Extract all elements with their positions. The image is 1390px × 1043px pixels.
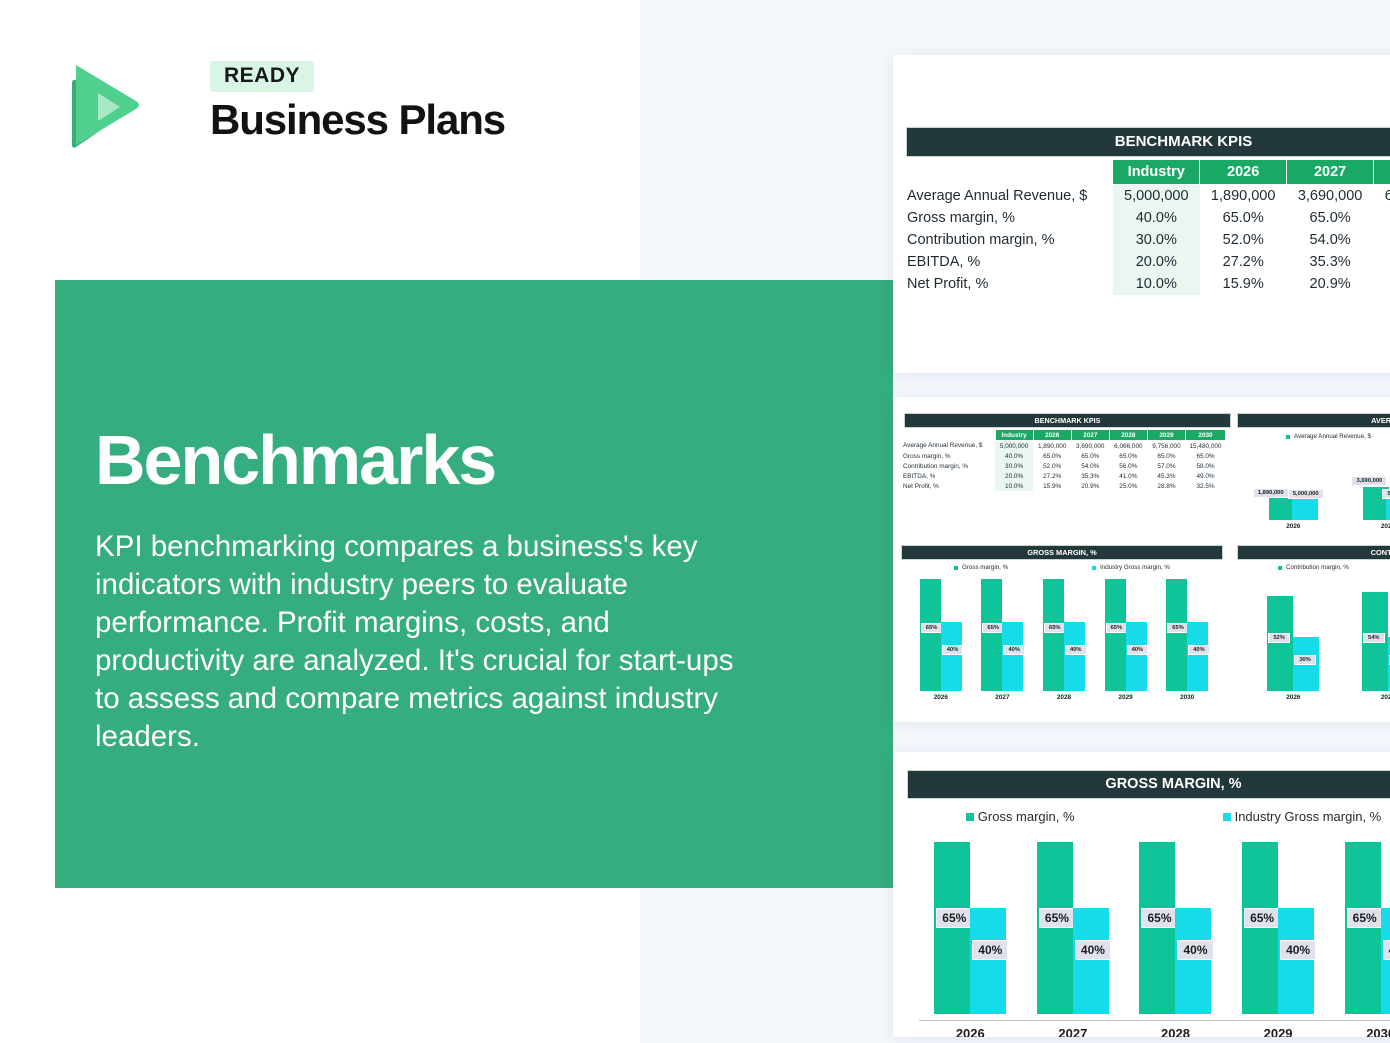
chart-plot-area: 65% 40% 65% 40% 65%: [910, 575, 1218, 691]
bar-value-label: 40%: [1127, 645, 1149, 655]
bar-value-label: 65%: [1244, 908, 1280, 928]
bar-company: 65%: [1043, 579, 1064, 691]
bar-group: 65% 40%: [1159, 575, 1215, 691]
cell-2028: 56.0%: [1109, 461, 1147, 471]
legend-item: Gross margin, %: [954, 564, 1008, 571]
x-tick: 2027: [1346, 694, 1390, 701]
cell-2029: 45.3%: [1147, 471, 1185, 481]
legend-item: Gross margin, %: [966, 809, 1075, 824]
table-row: EBITDA, % 20.0% 27.2% 35.3% 41.0%: [901, 251, 1390, 273]
legend-swatch-icon: [1223, 813, 1231, 821]
bar-company: 65%: [1105, 579, 1126, 691]
bar-value-label: 3,690,000: [1351, 476, 1387, 486]
legend-swatch-icon: [1092, 566, 1096, 570]
table-row: Contribution margin, % 30.0% 52.0% 54.0%…: [901, 229, 1390, 251]
chart-x-axis: 2026 2027 2028 2029 2030: [919, 1020, 1390, 1037]
kpi-table-mid-grid: Industry 2026 2027 2028 2029 2030 Averag…: [901, 429, 1226, 491]
cell-2027: 35.3%: [1287, 251, 1374, 273]
bar-group: 65% 40%: [913, 575, 969, 691]
cell-industry: 10.0%: [995, 481, 1033, 491]
chart-legend: Contribution margin, %: [1278, 564, 1390, 571]
page-description: KPI benchmarking compares a business's k…: [95, 528, 765, 756]
bar-company: 65%: [1242, 842, 1278, 1014]
cell-2027: 20.9%: [1071, 481, 1109, 491]
bar-company: 65%: [1345, 842, 1381, 1014]
x-tick: 2027: [974, 694, 1030, 701]
cell-industry: 30.0%: [995, 461, 1033, 471]
table-row: Net Profit, % 10.0% 15.9% 20.9% 25.0% 28…: [901, 481, 1226, 491]
legend-label: Average Annual Revenue, $: [1294, 433, 1371, 440]
bar-company: 65%: [1037, 842, 1073, 1014]
bar-industry: 40%: [1002, 622, 1023, 691]
bar-group: 65% 40%: [920, 836, 1020, 1014]
cell-2026: 27.2%: [1200, 251, 1287, 273]
hero-panel: Benchmarks KPI benchmarking compares a b…: [55, 280, 893, 888]
cell-2027: 20.9%: [1287, 273, 1374, 295]
bar-group: 54% 30%: [1346, 575, 1390, 691]
cell-2030: 58.0%: [1186, 461, 1226, 471]
bar-company: 65%: [920, 579, 941, 691]
cell-industry: 20.0%: [995, 471, 1033, 481]
bar-value-label: 40%: [1075, 940, 1111, 960]
cell-industry: 40.0%: [995, 451, 1033, 461]
bar-company: 54%: [1362, 592, 1388, 691]
legend-label: Industry Gross margin, %: [1100, 564, 1170, 571]
x-tick: 2028: [1036, 694, 1092, 701]
cell-2027: 3,690,000: [1071, 441, 1109, 452]
bar-company: 52%: [1267, 596, 1293, 691]
chart-legend: Average Annual Revenue, $: [1286, 433, 1390, 440]
chart-title: GROSS MARGIN, %: [901, 545, 1223, 560]
legend-item: Industry Gross margin, %: [1092, 564, 1170, 571]
x-tick: 2027: [1023, 1026, 1123, 1037]
cell-2028: 65.0%: [1109, 451, 1147, 461]
bar-value-label: 40%: [1177, 940, 1213, 960]
cell-2030: 49.0%: [1186, 471, 1226, 481]
bar-value-label: 65%: [1347, 908, 1383, 928]
legend-swatch-icon: [1278, 566, 1282, 570]
bar-value-label: 65%: [1039, 908, 1075, 928]
cell-2028: 41.0%: [1374, 251, 1390, 273]
row-label: EBITDA, %: [901, 471, 995, 481]
x-tick: 2026: [1251, 523, 1335, 530]
cell-industry: 5,000,000: [995, 441, 1033, 452]
chart-average-annual-revenue: AVERAGE ANNUAL REVENUE, $ Average Annual…: [1234, 413, 1390, 541]
page-title: Benchmarks: [95, 420, 495, 500]
table-row: Gross margin, % 40.0% 65.0% 65.0% 65.0%: [901, 207, 1390, 229]
table-row: Net Profit, % 10.0% 15.9% 20.9% 25.0%: [901, 273, 1390, 295]
cell-2029: 28.8%: [1147, 481, 1185, 491]
benchmark-kpis-table-card: BENCHMARK KPIS Industry 2026 2027 2028 A…: [893, 55, 1390, 373]
legend-label: Gross margin, %: [978, 809, 1075, 824]
legend-item: Average Annual Revenue, $: [1286, 433, 1371, 440]
chart-x-axis: 2026 2027 2028: [1246, 523, 1390, 530]
table-row: Average Annual Revenue, $ 5,000,000 1,89…: [901, 441, 1226, 452]
bar-value-label: 5,000,000: [1382, 489, 1390, 499]
chart-contribution-margin: CONTRIBUTION MARGIN, % Contribution marg…: [1234, 545, 1390, 721]
x-tick: 2026: [920, 1026, 1020, 1037]
cell-2026: 65.0%: [1033, 451, 1071, 461]
bar-industry: 40%: [941, 622, 962, 691]
cell-2029: 57.0%: [1147, 461, 1185, 471]
row-label: Average Annual Revenue, $: [901, 185, 1113, 208]
bar-value-label: 1,890,000: [1253, 488, 1289, 498]
bar-company: 65%: [1166, 579, 1187, 691]
header-2027: 2027: [1071, 430, 1109, 441]
bar-industry: 40%: [1278, 908, 1314, 1014]
bar-industry: 30%: [1293, 637, 1319, 691]
chart-x-axis: 2026 2027 2028: [1246, 694, 1390, 701]
kpi-table-mid-title: BENCHMARK KPIS: [904, 413, 1231, 428]
cell-2027: 3,690,000: [1287, 185, 1374, 208]
header-2028: 2028: [1374, 160, 1390, 185]
kpi-table-mid: BENCHMARK KPIS Industry 2026 2027 2028 2…: [901, 413, 1231, 491]
bar-value-label: 40%: [1188, 645, 1210, 655]
cell-2028: 6,066,000: [1109, 441, 1147, 452]
row-label: Contribution margin, %: [901, 229, 1113, 251]
bar-value-label: 65%: [1044, 623, 1066, 633]
header-2029: 2029: [1147, 430, 1185, 441]
bar-group: 65% 40%: [1125, 836, 1225, 1014]
cell-2029: 9,756,000: [1147, 441, 1185, 452]
bar-value-label: 40%: [1003, 645, 1025, 655]
bar-group: 65% 40%: [1023, 836, 1123, 1014]
x-tick: 2028: [1125, 1026, 1225, 1037]
kpi-table-top: BENCHMARK KPIS Industry 2026 2027 2028 A…: [901, 127, 1390, 295]
chart-title: CONTRIBUTION MARGIN, %: [1237, 545, 1390, 560]
bar-group: 65% 40%: [1228, 836, 1328, 1014]
bar-value-label: 54%: [1363, 633, 1385, 643]
legend-label: Industry Gross margin, %: [1235, 809, 1382, 824]
chart-gross-margin-large: GROSS MARGIN, % Gross margin, % Industry…: [901, 770, 1390, 1030]
bar-group: 65% 40%: [1331, 836, 1390, 1014]
ready-badge: READY: [210, 61, 314, 92]
header-industry: Industry: [1113, 160, 1200, 185]
cell-2028: 41.0%: [1109, 471, 1147, 481]
bar-value-label: 30%: [1294, 655, 1316, 665]
bar-industry: 40%: [1073, 908, 1109, 1014]
bar-industry: 40%: [1064, 622, 1085, 691]
cell-2030: 65.0%: [1186, 451, 1226, 461]
bar-value-label: 65%: [921, 623, 943, 633]
bar-industry: 40%: [1187, 622, 1208, 691]
row-label: Net Profit, %: [901, 481, 995, 491]
row-label: Average Annual Revenue, $: [901, 441, 995, 452]
x-tick: 2030: [1159, 694, 1215, 701]
cell-2026: 52.0%: [1200, 229, 1287, 251]
x-tick: 2026: [1251, 694, 1335, 701]
cell-industry: 5,000,000: [1113, 185, 1200, 208]
brand-wordmark: READY Business Plans: [210, 61, 505, 144]
x-tick: 2027: [1346, 523, 1390, 530]
cell-2026: 1,890,000: [1200, 185, 1287, 208]
bar-value-label: 65%: [1106, 623, 1128, 633]
bar-industry: 5,000,000: [1386, 494, 1390, 520]
kpi-table-top-grid: Industry 2026 2027 2028 Average Annual R…: [901, 159, 1390, 295]
legend-swatch-icon: [1286, 435, 1290, 439]
chart-plot-area: 52% 30% 54% 30% 56%: [1246, 575, 1390, 691]
x-tick: 2030: [1331, 1026, 1390, 1037]
bar-industry: 40%: [970, 908, 1006, 1014]
header-industry: Industry: [995, 430, 1033, 441]
chart-gross-margin-small: GROSS MARGIN, % Gross margin, % Industry…: [896, 545, 1228, 721]
chart-plot-area: 1,890,000 5,000,000 3,690,000 5,000,000: [1246, 446, 1390, 520]
chart-legend: Gross margin, % Industry Gross margin, %: [901, 809, 1390, 824]
cell-2026: 15.9%: [1033, 481, 1071, 491]
cell-2028: 25.0%: [1374, 273, 1390, 295]
cell-2030: 15,480,000: [1186, 441, 1226, 452]
x-tick: 2029: [1228, 1026, 1328, 1037]
cell-2028: 6,066,000: [1374, 185, 1390, 208]
kpi-table-top-title: BENCHMARK KPIS: [906, 127, 1390, 157]
cell-2028: 56.0%: [1374, 229, 1390, 251]
bar-group: 1,890,000 5,000,000: [1251, 446, 1335, 520]
bar-industry: 40%: [1175, 908, 1211, 1014]
header-2030: 2030: [1186, 430, 1226, 441]
row-label: Contribution margin, %: [901, 461, 995, 471]
row-label: Gross margin, %: [901, 451, 995, 461]
cell-2026: 65.0%: [1200, 207, 1287, 229]
x-tick: 2026: [913, 694, 969, 701]
play-triangle-logo-icon: [58, 57, 146, 149]
bar-value-label: 40%: [1065, 645, 1087, 655]
bar-company: 65%: [1139, 842, 1175, 1014]
cell-2027: 54.0%: [1287, 229, 1374, 251]
cell-2027: 35.3%: [1071, 471, 1109, 481]
brand-logo[interactable]: READY Business Plans: [58, 55, 448, 155]
table-header-row: Industry 2026 2027 2028: [901, 160, 1390, 185]
cell-2028: 65.0%: [1374, 207, 1390, 229]
header-blank: [901, 160, 1113, 185]
cell-2027: 65.0%: [1071, 451, 1109, 461]
table-header-row: Industry 2026 2027 2028 2029 2030: [901, 430, 1226, 441]
bar-value-label: 40%: [1280, 940, 1316, 960]
cell-industry: 40.0%: [1113, 207, 1200, 229]
bar-group: 52% 30%: [1251, 575, 1335, 691]
bar-value-label: 40%: [972, 940, 1008, 960]
header-2028: 2028: [1109, 430, 1147, 441]
row-label: Net Profit, %: [901, 273, 1113, 295]
table-row: Contribution margin, % 30.0% 52.0% 54.0%…: [901, 461, 1226, 471]
bar-value-label: 65%: [936, 908, 972, 928]
bar-industry: 40%: [1126, 622, 1147, 691]
header-2026: 2026: [1033, 430, 1071, 441]
cell-2030: 32.5%: [1186, 481, 1226, 491]
bar-group: 65% 40%: [974, 575, 1030, 691]
legend-label: Contribution margin, %: [1286, 564, 1349, 571]
bar-value-label: 40%: [942, 645, 964, 655]
cell-2026: 27.2%: [1033, 471, 1071, 481]
bar-value-label: 40%: [1383, 940, 1390, 960]
header-blank: [901, 430, 995, 441]
bar-industry: 5,000,000: [1292, 494, 1318, 520]
cell-2027: 54.0%: [1071, 461, 1109, 471]
bar-value-label: 52%: [1268, 633, 1290, 643]
cell-2026: 52.0%: [1033, 461, 1071, 471]
chart-plot-area: 65% 40% 65% 40% 65%: [919, 836, 1390, 1014]
bar-value-label: 5,000,000: [1288, 489, 1324, 499]
cell-industry: 20.0%: [1113, 251, 1200, 273]
cell-2026: 15.9%: [1200, 273, 1287, 295]
header-2027: 2027: [1287, 160, 1374, 185]
legend-swatch-icon: [954, 566, 958, 570]
cell-2029: 65.0%: [1147, 451, 1185, 461]
cell-2028: 25.0%: [1109, 481, 1147, 491]
bar-value-label: 65%: [982, 623, 1004, 633]
cell-industry: 30.0%: [1113, 229, 1200, 251]
chart-legend: Gross margin, % Industry Gross margin, %: [896, 564, 1228, 571]
row-label: EBITDA, %: [901, 251, 1113, 273]
row-label: Gross margin, %: [901, 207, 1113, 229]
cell-2027: 65.0%: [1287, 207, 1374, 229]
bar-group: 65% 40%: [1098, 575, 1154, 691]
chart-title: AVERAGE ANNUAL REVENUE, $: [1237, 413, 1390, 428]
chart-x-axis: 2026 2027 2028 2029 2030: [910, 694, 1218, 701]
bar-value-label: 65%: [1167, 623, 1189, 633]
legend-item: Industry Gross margin, %: [1223, 809, 1382, 824]
table-row: Average Annual Revenue, $ 5,000,000 1,89…: [901, 185, 1390, 208]
cell-2026: 1,890,000: [1033, 441, 1071, 452]
header-2026: 2026: [1200, 160, 1287, 185]
gross-margin-chart-card: GROSS MARGIN, % Gross margin, % Industry…: [893, 752, 1390, 1037]
cell-industry: 10.0%: [1113, 273, 1200, 295]
legend-swatch-icon: [966, 813, 974, 821]
bar-company: 65%: [934, 842, 970, 1014]
table-row: Gross margin, % 40.0% 65.0% 65.0% 65.0% …: [901, 451, 1226, 461]
brand-name: Business Plans: [210, 96, 505, 144]
bar-industry: 40%: [1381, 908, 1390, 1014]
bar-value-label: 65%: [1141, 908, 1177, 928]
dashboard-card: BENCHMARK KPIS Industry 2026 2027 2028 2…: [893, 397, 1390, 722]
bar-company: 65%: [981, 579, 1002, 691]
chart-title: GROSS MARGIN, %: [907, 770, 1390, 799]
table-row: EBITDA, % 20.0% 27.2% 35.3% 41.0% 45.3% …: [901, 471, 1226, 481]
bar-group: 65% 40%: [1036, 575, 1092, 691]
x-tick: 2029: [1098, 694, 1154, 701]
legend-item: Contribution margin, %: [1278, 564, 1349, 571]
bar-group: 3,690,000 5,000,000: [1346, 446, 1390, 520]
slide-root: READY Business Plans Benchmarks KPI benc…: [0, 0, 1390, 1043]
legend-label: Gross margin, %: [962, 564, 1008, 571]
